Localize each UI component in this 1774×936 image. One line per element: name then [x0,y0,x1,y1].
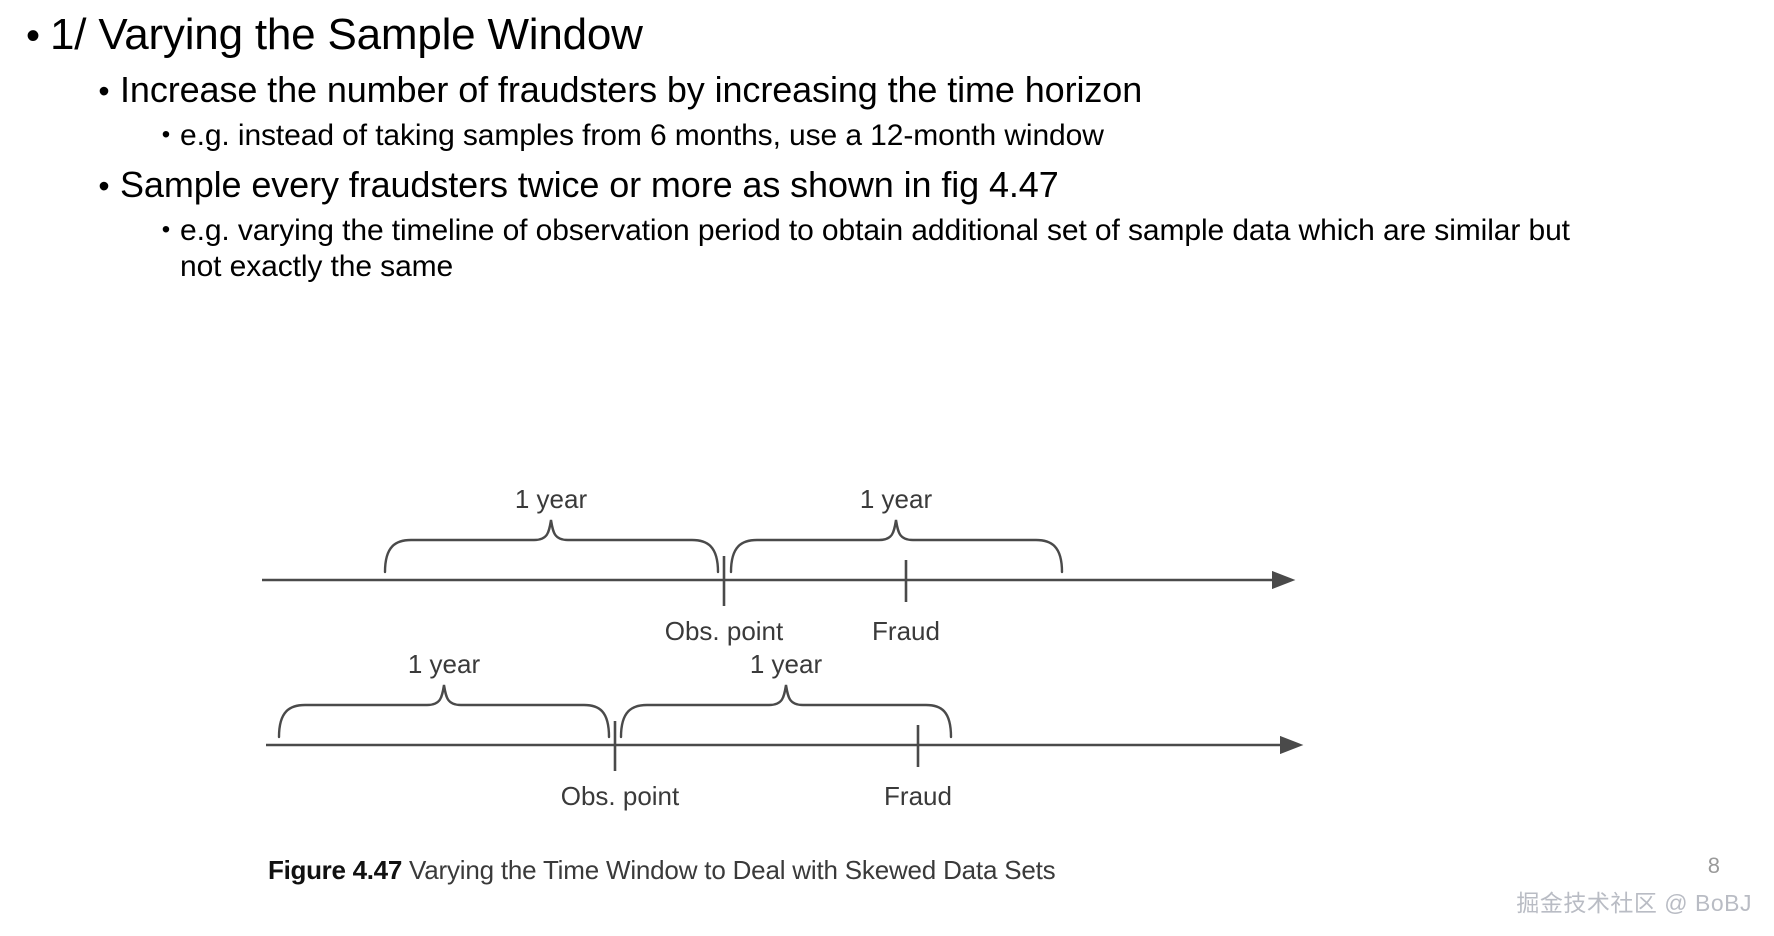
timeline-bottom-tick-fraud-label: Fraud [884,781,952,811]
outline-bullet-3: • e.g. instead of taking samples from 6 … [0,118,1774,154]
bullet-marker-icon: • [16,10,50,56]
figure-4-47-diagram: 1 year 1 year Obs. point Fraud 1 year 1 … [0,396,1774,866]
outline-bullet-4-text: Sample every fraudsters twice or more as… [120,164,1774,205]
bullet-marker-icon: • [88,164,120,202]
figure-caption-number: Figure 4.47 [268,855,402,885]
outline-bullet-1: • 1/ Varying the Sample Window [0,10,1774,59]
timeline-top-tick-obs-point-label: Obs. point [665,616,784,646]
outline-bullet-5-text: e.g. varying the timeline of observation… [180,213,1600,285]
outline-bullet-2: • Increase the number of fraudsters by i… [0,69,1774,110]
slide-outline: • 1/ Varying the Sample Window • Increas… [0,0,1774,285]
timeline-bottom-brace-1 [279,685,609,737]
timeline-top-brace-1-label: 1 year [515,484,588,514]
watermark: 掘金技术社区 @ BoBJ [1516,884,1752,918]
timeline-top-tick-fraud-label: Fraud [872,616,940,646]
bullet-marker-icon: • [152,118,180,147]
timeline-bottom-brace-2-label: 1 year [750,649,823,679]
timeline-top-brace-1 [385,520,718,572]
timeline-top: 1 year 1 year Obs. point Fraud [262,484,1272,646]
timeline-bottom-brace-2 [621,685,951,737]
outline-bullet-4: • Sample every fraudsters twice or more … [0,164,1774,205]
bullet-marker-icon: • [152,213,180,242]
timeline-bottom-tick-obs-point-label: Obs. point [561,781,680,811]
bullet-marker-icon: • [88,69,120,107]
timeline-top-brace-2-label: 1 year [860,484,933,514]
timeline-bottom: 1 year 1 year Obs. point Fraud [266,649,1280,811]
outline-bullet-3-text: e.g. instead of taking samples from 6 mo… [180,118,1600,154]
figure-caption: Figure 4.47 Varying the Time Window to D… [268,855,1055,886]
outline-bullet-2-text: Increase the number of fraudsters by inc… [120,69,1774,110]
figure-caption-title: Varying the Time Window to Deal with Ske… [409,855,1055,885]
outline-bullet-1-text: 1/ Varying the Sample Window [50,10,1774,59]
timeline-top-brace-2 [731,520,1062,572]
page-number: 8 [1708,853,1720,879]
timeline-bottom-brace-1-label: 1 year [408,649,481,679]
outline-bullet-5: • e.g. varying the timeline of observati… [0,213,1774,285]
